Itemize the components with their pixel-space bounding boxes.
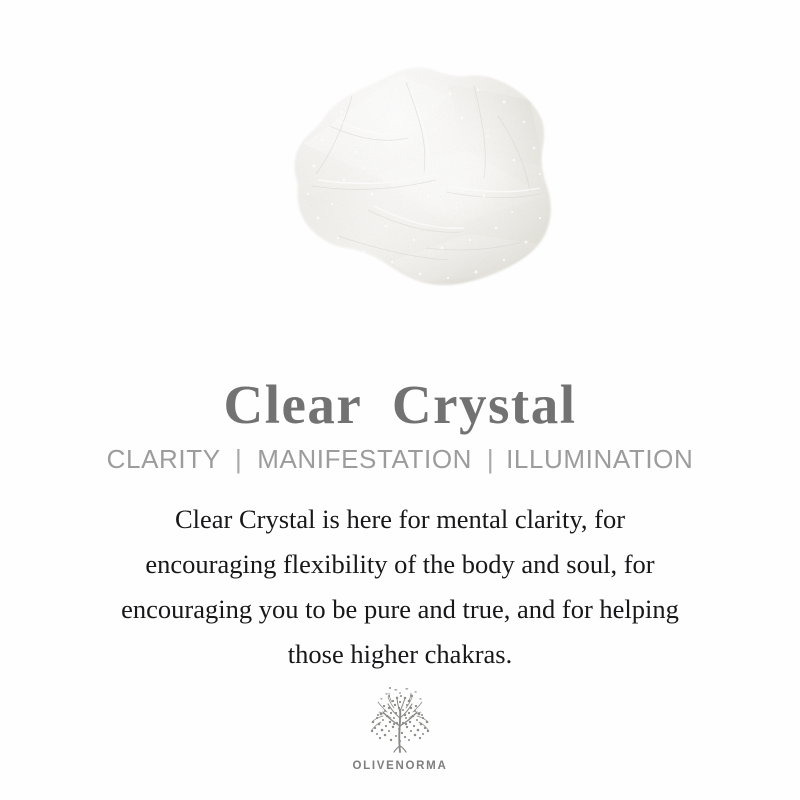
description-line: encouraging you to be pure and true, and… xyxy=(40,587,760,632)
keyword-separator: | xyxy=(480,444,498,474)
clear-crystal-image xyxy=(278,56,564,314)
keyword-clarity: CLARITY xyxy=(107,444,221,474)
crystal-surface-detail xyxy=(278,56,564,314)
page-title: Clear Crystal xyxy=(0,374,800,436)
description-line: those higher chakras. xyxy=(40,632,760,677)
crystal-info-card: Clear Crystal CLARITY | MANIFESTATION | … xyxy=(0,0,800,800)
keyword-manifestation: MANIFESTATION xyxy=(257,444,472,474)
keyword-list: CLARITY | MANIFESTATION | ILLUMINATION xyxy=(0,443,800,475)
keyword-separator: | xyxy=(228,444,249,474)
description-line: encouraging flexibility of the body and … xyxy=(40,542,760,587)
brand-logo: OLIVENORMA xyxy=(0,686,800,772)
brand-name: OLIVENORMA xyxy=(0,760,800,772)
crystal-illustration xyxy=(278,56,564,314)
olive-tree-icon xyxy=(361,686,439,758)
description-line: Clear Crystal is here for mental clarity… xyxy=(40,497,760,542)
keyword-illumination: ILLUMINATION xyxy=(506,444,693,474)
product-description: Clear Crystal is here for mental clarity… xyxy=(40,497,760,677)
